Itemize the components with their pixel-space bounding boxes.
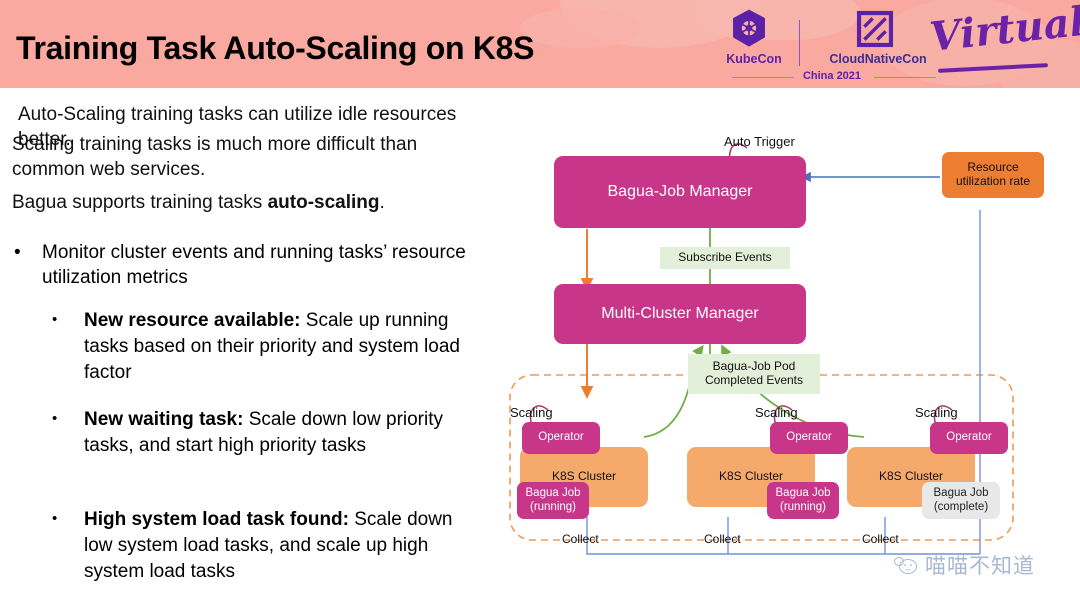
- edition-label: China 2021: [716, 70, 948, 82]
- bagua-job-node-2[interactable]: Bagua Job (running): [767, 482, 839, 519]
- cloudnativecon-icon: [856, 10, 894, 48]
- bagua-job-line2: (running): [780, 501, 826, 514]
- kubernetes-wheel-icon: [728, 8, 770, 50]
- header-blob-decoration: [520, 8, 640, 48]
- operator-node-1[interactable]: Operator: [522, 422, 600, 454]
- watermark: 喵喵不知道: [893, 548, 1078, 582]
- para3-suffix: .: [380, 192, 385, 213]
- bagua-job-line1: Bagua Job: [934, 487, 989, 500]
- intro-paragraph-2: Scaling training tasks is much more diff…: [12, 132, 462, 182]
- pod-completed-events-label: Bagua-Job Pod Completed Events: [688, 354, 820, 394]
- sub-bullet-text: New resource available: Scale up running…: [84, 308, 477, 386]
- intro-paragraph-3: Bagua supports training tasks auto-scali…: [12, 190, 482, 215]
- bullet-text: Monitor cluster events and running tasks…: [42, 240, 484, 290]
- slide-header: Training Task Auto-Scaling on K8S KubeCo…: [0, 0, 1080, 88]
- kubecon-logo-group: KubeCon CloudNativeCon China 2021: [716, 6, 946, 84]
- sub-bullet-new-waiting-task: • New waiting task: Scale down low prior…: [52, 407, 477, 459]
- bagua-job-manager-node[interactable]: Bagua-Job Manager: [554, 156, 806, 228]
- bagua-job-line2: (complete): [934, 501, 988, 514]
- sub-bullet-text: High system load task found: Scale down …: [84, 507, 477, 585]
- sub-bullet-high-system-load: • High system load task found: Scale dow…: [52, 507, 477, 585]
- bagua-job-node-3[interactable]: Bagua Job (complete): [922, 482, 1000, 519]
- collect-label-2: Collect: [704, 532, 741, 546]
- kubecon-label: KubeCon: [716, 52, 792, 66]
- sub-bullet-new-resource-available: • New resource available: Scale up runni…: [52, 308, 477, 386]
- collect-label-1: Collect: [562, 532, 599, 546]
- sub-bullet-bold: New waiting task:: [84, 409, 243, 430]
- para3-bold: auto-scaling: [268, 192, 380, 213]
- scaling-label-cluster-3: Scaling: [915, 405, 958, 420]
- scaling-label-cluster-1: Scaling: [510, 405, 553, 420]
- content-text-column: Auto-Scaling training tasks can utilize …: [0, 92, 500, 606]
- subscribe-events-label: Subscribe Events: [660, 247, 790, 269]
- scaling-label-cluster-2: Scaling: [755, 405, 798, 420]
- operator-node-2[interactable]: Operator: [770, 422, 848, 454]
- watermark-text: 喵喵不知道: [925, 550, 1035, 580]
- sub-bullet-bold: High system load task found:: [84, 509, 349, 530]
- bagua-job-line1: Bagua Job: [776, 487, 831, 500]
- bullet-marker: •: [14, 240, 21, 265]
- operator-node-3[interactable]: Operator: [930, 422, 1008, 454]
- cloudnativecon-label: CloudNativeCon: [808, 52, 948, 66]
- edition-row: China 2021: [716, 70, 948, 84]
- collect-label-3: Collect: [862, 532, 899, 546]
- page-title: Training Task Auto-Scaling on K8S: [16, 30, 534, 67]
- bullet-item-monitor: • Monitor cluster events and running tas…: [14, 240, 484, 290]
- bagua-job-line2: (running): [530, 501, 576, 514]
- bagua-job-node-1[interactable]: Bagua Job (running): [517, 482, 589, 519]
- bullet-marker: •: [52, 307, 57, 333]
- pod-completed-line1: Bagua-Job Pod: [713, 360, 796, 374]
- cat-face-icon: [893, 553, 921, 577]
- sub-bullet-text: New waiting task: Scale down low priorit…: [84, 407, 477, 459]
- multi-cluster-manager-node[interactable]: Multi-Cluster Manager: [554, 284, 806, 344]
- pod-completed-line2: Completed Events: [705, 374, 803, 388]
- para3-prefix: Bagua supports training tasks: [12, 192, 268, 213]
- resource-box-line1: Resource: [967, 161, 1018, 175]
- resource-utilization-rate-node[interactable]: Resource utilization rate: [942, 152, 1044, 198]
- bullet-marker: •: [52, 406, 57, 432]
- architecture-diagram: Auto Trigger Bagua-Job Manager Resource …: [492, 92, 1080, 606]
- bagua-job-line1: Bagua Job: [526, 487, 581, 500]
- bullet-marker: •: [52, 506, 57, 532]
- auto-trigger-label: Auto Trigger: [724, 134, 795, 149]
- logo-divider: [799, 20, 800, 66]
- sub-bullet-bold: New resource available:: [84, 310, 301, 331]
- resource-box-line2: utilization rate: [956, 175, 1030, 189]
